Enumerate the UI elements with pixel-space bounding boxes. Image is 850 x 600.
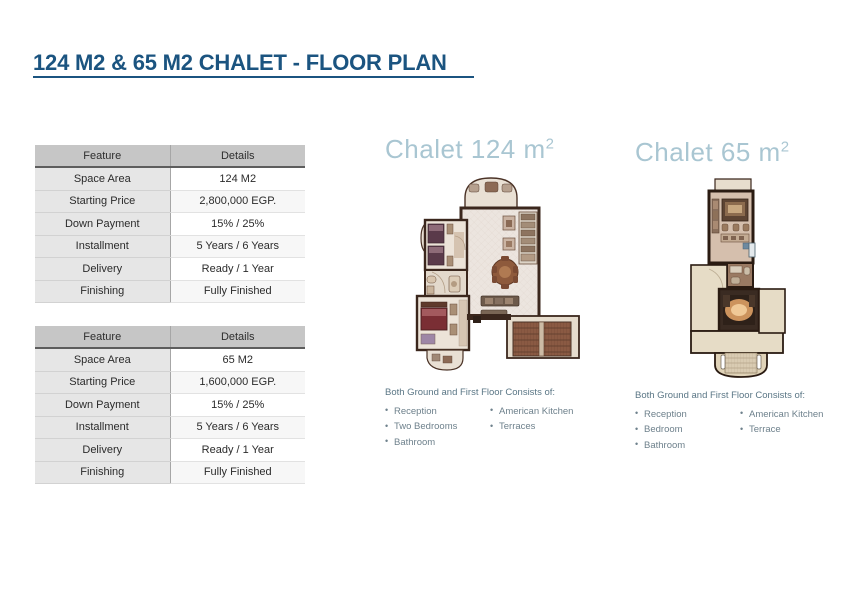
column-header-details: Details (170, 145, 305, 167)
table-row: Finishing Fully Finished (35, 461, 305, 484)
table-row: Installment 5 Years / 6 Years (35, 416, 305, 439)
chalet-124-block: Chalet 124 m2 (385, 135, 620, 450)
cell-feature: Down Payment (35, 213, 170, 236)
chalet-124-consists-left-list: Reception Two Bedrooms Bathroom (385, 404, 490, 451)
chalet-65-consists-right-list: American Kitchen Terrace (740, 407, 823, 454)
cell-details: Ready / 1 Year (170, 258, 305, 281)
list-item: Two Bedrooms (385, 419, 490, 435)
chalet-124-consists-title: Both Ground and First Floor Consists of: (385, 387, 620, 398)
chalet-65-heading-superscript: 2 (781, 138, 790, 155)
table-row: Finishing Fully Finished (35, 280, 305, 303)
table-row: Delivery Ready / 1 Year (35, 258, 305, 281)
chalet-65-consists-title: Both Ground and First Floor Consists of: (635, 390, 850, 401)
cell-details: 5 Years / 6 Years (170, 235, 305, 258)
cell-feature: Space Area (35, 348, 170, 371)
chalet-124-consists-right-list: American Kitchen Terraces (490, 404, 573, 451)
chalet-65-spec-table: Feature Details Space Area 65 M2 Startin… (35, 326, 305, 484)
cell-feature: Delivery (35, 258, 170, 281)
column-header-feature: Feature (35, 145, 170, 167)
cell-feature: Space Area (35, 167, 170, 190)
chalet-124-heading-text: Chalet 124 m (385, 134, 546, 164)
cell-details: 15% / 25% (170, 213, 305, 236)
column-header-details: Details (170, 326, 305, 348)
table-header-row: Feature Details (35, 145, 305, 167)
list-item: Bathroom (385, 435, 490, 451)
page-title: 124 M2 & 65 M2 CHALET - FLOOR PLAN (33, 50, 447, 76)
cell-details: 124 M2 (170, 167, 305, 190)
floor-plan-124-drawing (407, 176, 582, 376)
chalet-65-consists-left-list: Reception Bedroom Bathroom (635, 407, 740, 454)
chalet-124-consists-lists: Reception Two Bedrooms Bathroom American… (385, 404, 620, 451)
cell-feature: Starting Price (35, 190, 170, 213)
cell-details: Fully Finished (170, 280, 305, 303)
chalet-65-consists-lists: Reception Bedroom Bathroom American Kitc… (635, 407, 850, 454)
floor-plan-124-image (407, 176, 620, 381)
table-row: Starting Price 2,800,000 EGP. (35, 190, 305, 213)
table-header-row: Feature Details (35, 326, 305, 348)
cell-feature: Starting Price (35, 371, 170, 394)
cell-details: 2,800,000 EGP. (170, 190, 305, 213)
list-item: Reception (385, 404, 490, 420)
cell-details: Fully Finished (170, 461, 305, 484)
chalet-65-block: Chalet 65 m2 (635, 138, 850, 453)
floor-plan-65-image (683, 177, 850, 384)
cell-feature: Finishing (35, 461, 170, 484)
chalet-124-spec-table: Feature Details Space Area 124 M2 Starti… (35, 145, 305, 303)
list-item: Terraces (490, 419, 573, 435)
list-item: American Kitchen (740, 407, 823, 423)
table-row: Space Area 65 M2 (35, 348, 305, 371)
chalet-124-heading: Chalet 124 m2 (385, 135, 620, 164)
list-item: Bathroom (635, 438, 740, 454)
cell-feature: Finishing (35, 280, 170, 303)
cell-feature: Installment (35, 235, 170, 258)
list-item: Reception (635, 407, 740, 423)
list-item: American Kitchen (490, 404, 573, 420)
chalet-124-heading-superscript: 2 (546, 135, 555, 152)
table-row: Delivery Ready / 1 Year (35, 439, 305, 462)
cell-details: Ready / 1 Year (170, 439, 305, 462)
table-row: Down Payment 15% / 25% (35, 394, 305, 417)
table-row: Starting Price 1,600,000 EGP. (35, 371, 305, 394)
cell-feature: Delivery (35, 439, 170, 462)
cell-details: 1,600,000 EGP. (170, 371, 305, 394)
cell-details: 65 M2 (170, 348, 305, 371)
floor-plan-65-drawing (683, 177, 798, 379)
table-row: Space Area 124 M2 (35, 167, 305, 190)
chalet-65-heading-text: Chalet 65 m (635, 137, 781, 167)
list-item: Terrace (740, 422, 823, 438)
chalet-65-heading: Chalet 65 m2 (635, 138, 850, 167)
cell-details: 15% / 25% (170, 394, 305, 417)
table-row: Down Payment 15% / 25% (35, 213, 305, 236)
column-header-feature: Feature (35, 326, 170, 348)
table-row: Installment 5 Years / 6 Years (35, 235, 305, 258)
cell-feature: Down Payment (35, 394, 170, 417)
cell-details: 5 Years / 6 Years (170, 416, 305, 439)
list-item: Bedroom (635, 422, 740, 438)
page-title-underline (33, 76, 474, 78)
cell-feature: Installment (35, 416, 170, 439)
